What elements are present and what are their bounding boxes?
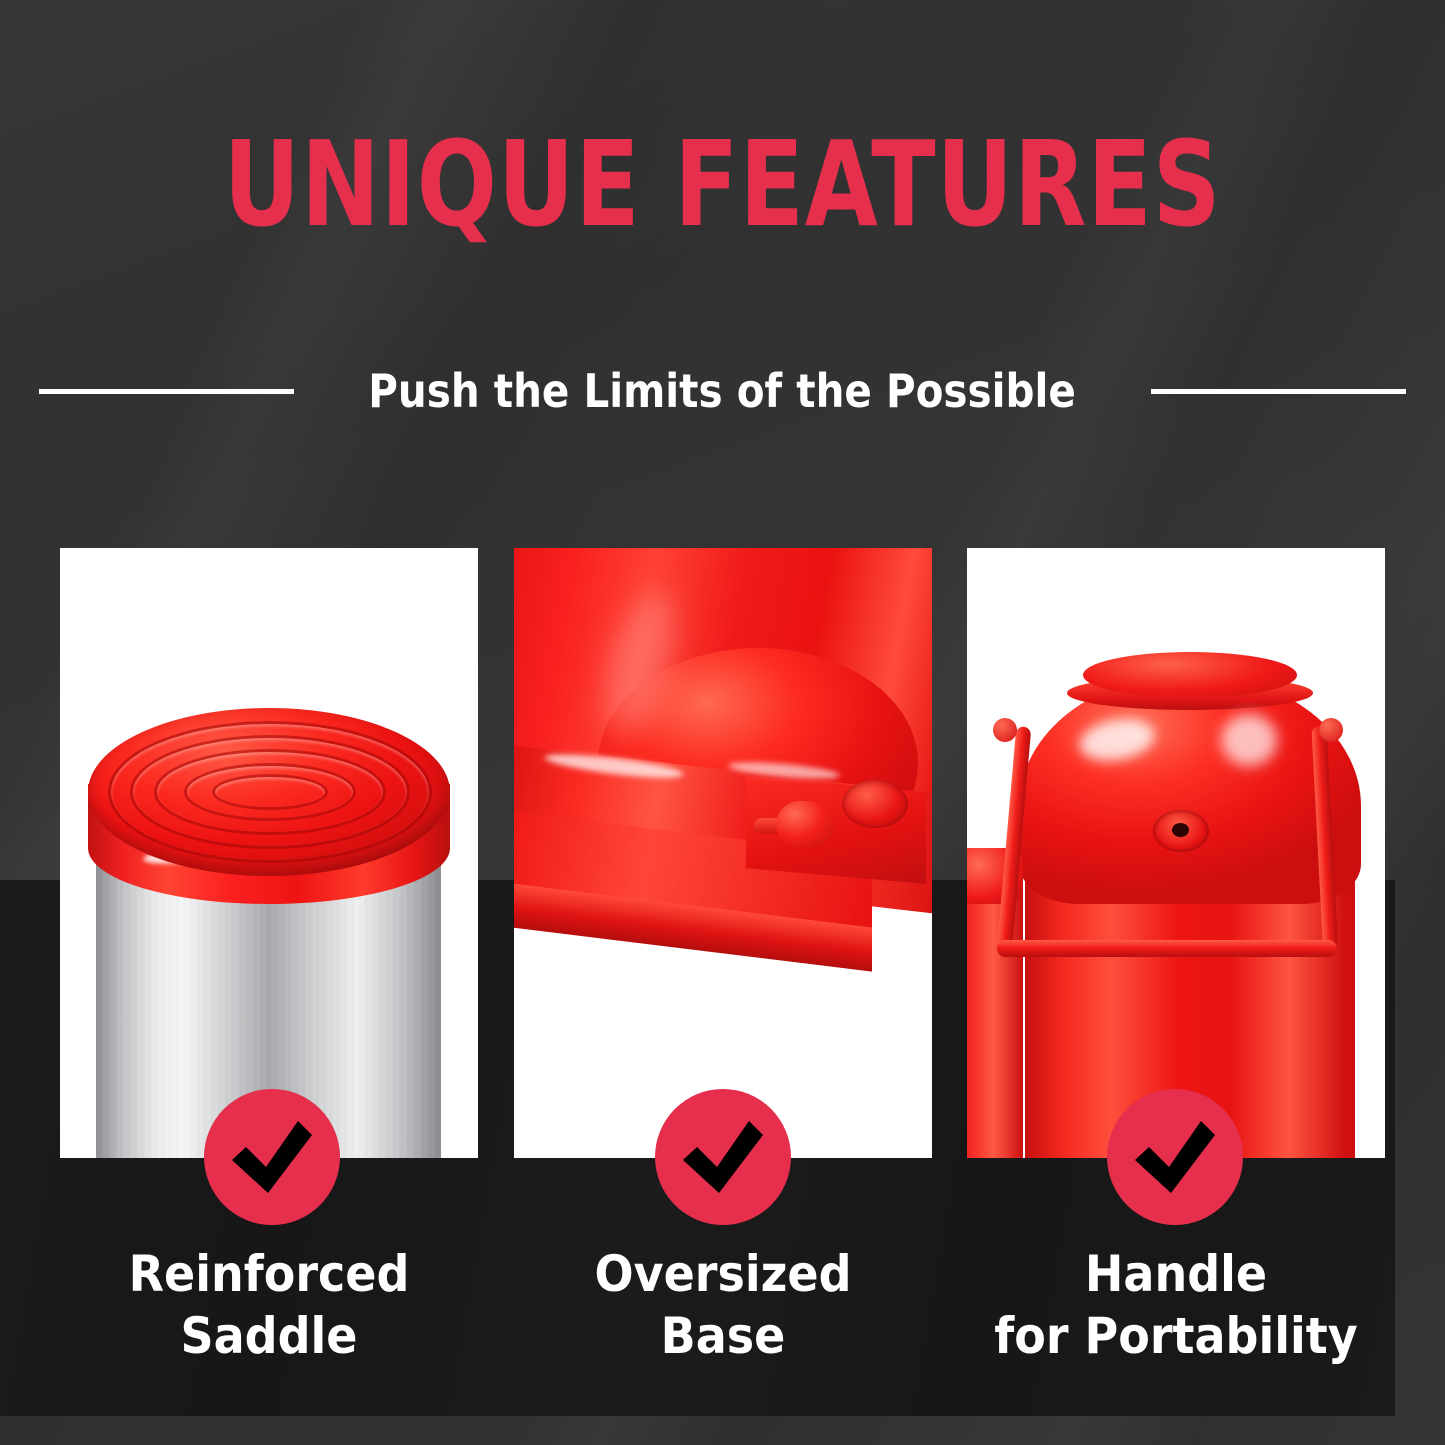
subtitle-row: Push the Limits of the Possible [0,360,1445,422]
caption-line-1: Oversized [594,1245,851,1303]
checkmark-icon [1129,1113,1221,1201]
jack-fill-port-hole [1172,823,1189,837]
jack-dome-highlight-right [1221,714,1277,766]
caption-line-2: Saddle [77,1305,462,1367]
carry-handle-left-pivot [993,718,1017,742]
carry-handle-right-pivot [1319,718,1343,742]
feature-caption-base: Oversized Base [530,1243,915,1367]
jack-collar-highlight [1163,618,1273,636]
saddle-cap-top [88,708,450,876]
checkmark-icon [226,1113,318,1201]
caption-line-2: Base [530,1305,915,1367]
feature-caption-handle: Handle for Portability [984,1243,1369,1367]
checkmark-icon [677,1113,769,1201]
feature-check-badge-handle [1107,1089,1243,1225]
page-title: UNIQUE FEATURES [145,128,1301,240]
feature-check-badge-base [655,1089,791,1225]
jack-pump-cylinder [967,878,1023,1158]
feature-caption-row: Reinforced Saddle Oversized Base Handle … [60,1243,1385,1367]
jack-top-collar [1083,652,1297,698]
feature-caption-saddle: Reinforced Saddle [77,1243,462,1367]
feature-panel-row [60,548,1385,1158]
base-cast-boss [842,780,908,828]
base-release-valve-knob [776,801,834,847]
saddle-groove-5 [212,774,328,810]
caption-line-2: for Portability [984,1305,1369,1367]
carry-handle-bar [997,940,1337,957]
page-subtitle: Push the Limits of the Possible [346,365,1099,417]
caption-line-1: Reinforced [129,1245,410,1303]
feature-check-badge-saddle [204,1089,340,1225]
caption-line-1: Handle [1085,1245,1267,1303]
subtitle-rule-right [1151,389,1406,394]
subtitle-rule-left [39,389,294,394]
feature-image-saddle [60,548,478,1158]
infographic-canvas: UNIQUE FEATURES Push the Limits of the P… [0,0,1445,1445]
feature-image-base [514,548,932,1158]
feature-image-handle [967,548,1385,1158]
